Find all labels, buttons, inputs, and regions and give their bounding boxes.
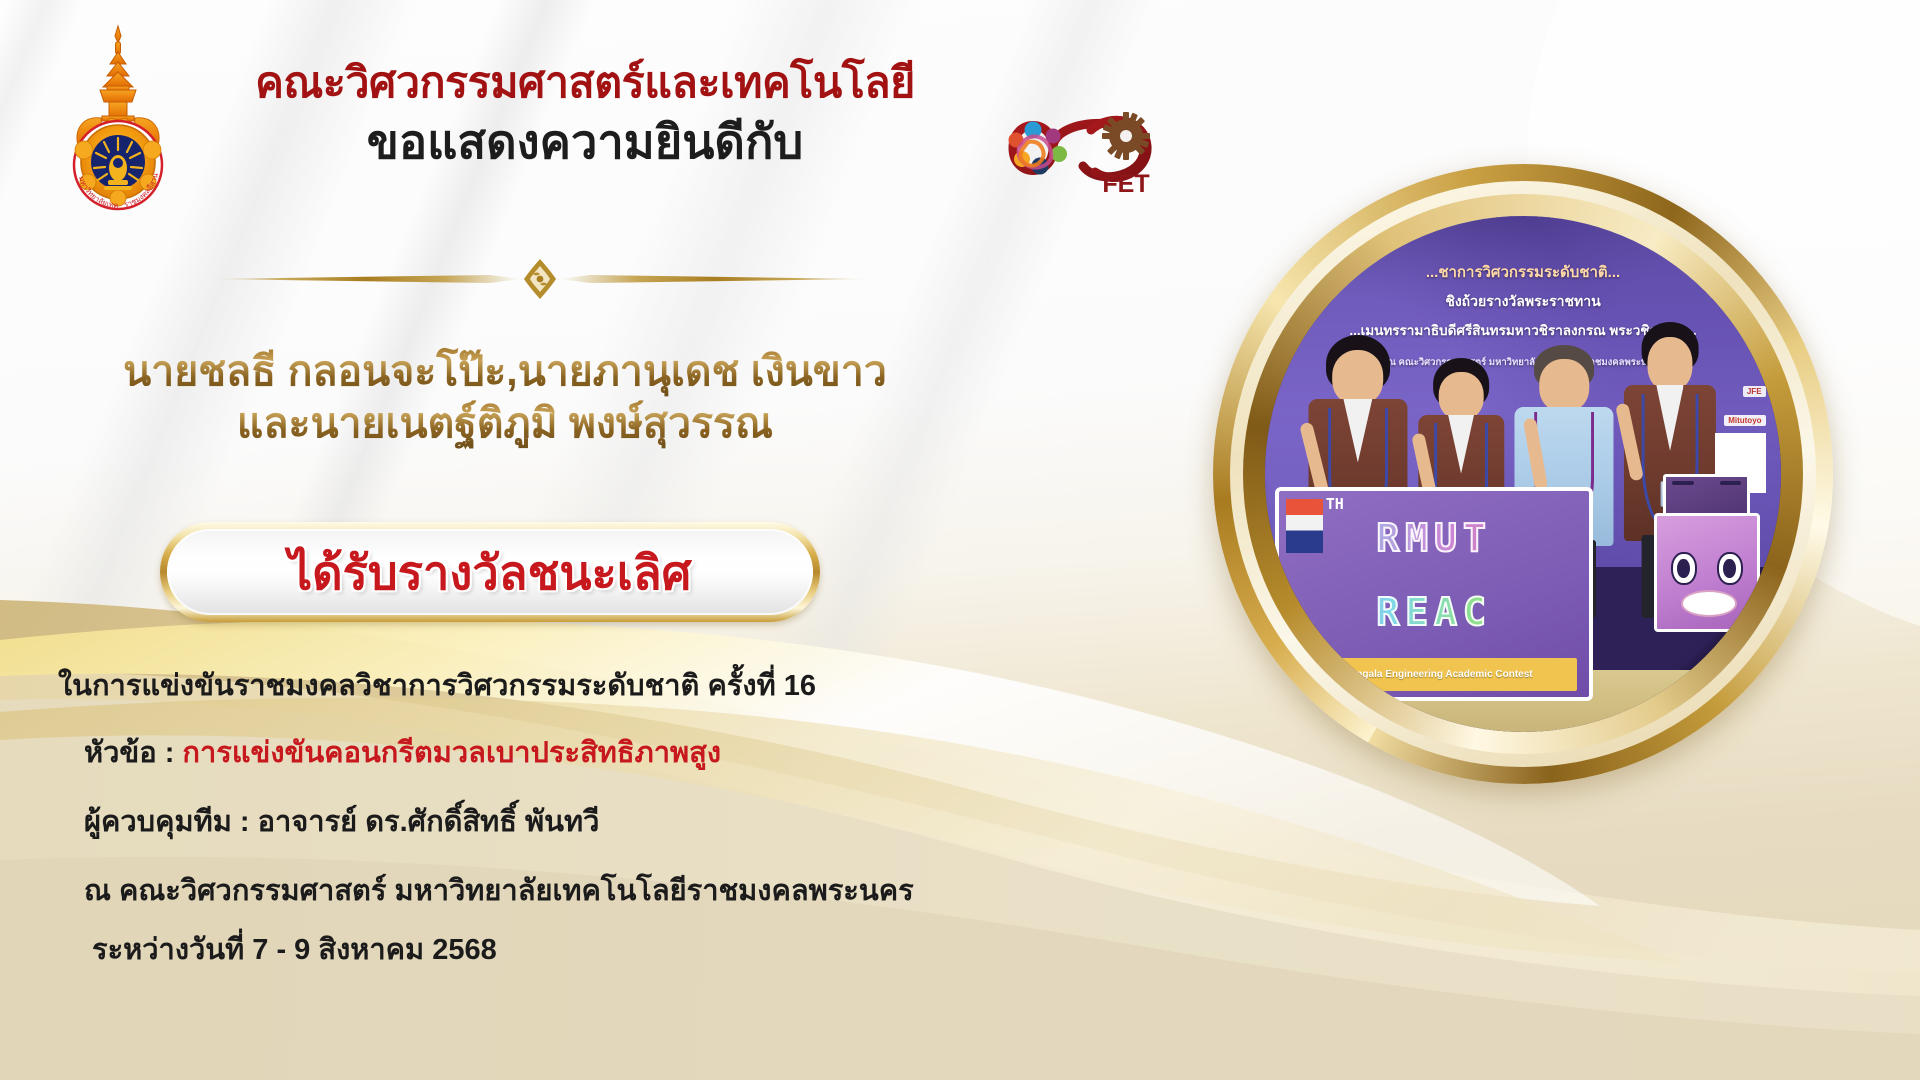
photo-content: ...ชาการวิศวกรรมระดับชาติ... ชิงถ้วยรางว… bbox=[1265, 216, 1781, 732]
topic-line: หัวข้อ : การแข่งขันคอนกรีตมวลเบาประสิทธิ… bbox=[84, 739, 1088, 768]
topic-label: หัวข้อ : bbox=[84, 737, 182, 769]
fet-label: FET bbox=[1102, 170, 1149, 198]
mascot-face bbox=[1654, 513, 1760, 632]
gold-ornamental-divider-icon bbox=[190, 258, 890, 300]
team-award-photo: ...ชาการวิศวกรรมระดับชาติ... ชิงถ้วยรางว… bbox=[1213, 164, 1833, 784]
venue-line: ณ คณะวิศวกรรมศาสตร์ มหาวิทยาลัยเทคโนโลยี… bbox=[84, 877, 1088, 906]
sponsor-logo-1: JFE bbox=[1743, 386, 1766, 397]
sign-subtitle: ...ngala Engineering Academic Contest bbox=[1304, 658, 1576, 691]
backdrop-text-line-2: ชิงถ้วยรางวัลพระราชทาน bbox=[1265, 291, 1781, 313]
congratulations-title: ขอแสดงความยินดีกับ bbox=[170, 113, 1000, 170]
certificate-banner: มหาวิทยาลัยเทคโนโลยี ราชมงคลอีสาน คณะวิศ… bbox=[0, 0, 1920, 1080]
robot-mascot-icon: 2025 bbox=[1647, 474, 1761, 691]
mascot-year-label: 2025 bbox=[1654, 681, 1754, 699]
details-block: ในการแข่งขันราชมงคลวิชาการวิศวกรรมระดับช… bbox=[58, 672, 1088, 965]
sign-reac-label: REAC bbox=[1298, 577, 1570, 647]
header-block: คณะวิศวกรรมศาสตร์และเทคโนโลยี ขอแสดงความ… bbox=[170, 58, 1000, 170]
winner-names-line-2: และนายเนตฐ์ติภูมิ พงษ์สุวรรณ bbox=[40, 397, 970, 449]
dates-line: ระหว่างวันที่ 7 - 9 สิงหาคม 2568 bbox=[92, 936, 1088, 965]
faculty-title: คณะวิศวกรรมศาสตร์และเทคโนโลยี bbox=[170, 58, 1000, 109]
backdrop-text-line-1: ...ชาการวิศวกรรมระดับชาติ... bbox=[1265, 260, 1781, 284]
winner-names-line-1: นายชลธี กลอนจะโป๊ะ,นายภานุเดช เงินขาว bbox=[40, 345, 970, 397]
competition-line: ในการแข่งขันราชมงคลวิชาการวิศวกรรมระดับช… bbox=[58, 672, 1088, 701]
award-plaque: ได้รับรางวัลชนะเลิศ bbox=[160, 522, 820, 622]
fet-logo: FET bbox=[995, 96, 1180, 201]
university-emblem-icon: มหาวิทยาลัยเทคโนโลยี ราชมงคลอีสาน bbox=[52, 22, 184, 212]
winner-names: นายชลธี กลอนจะโป๊ะ,นายภานุเดช เงินขาว แล… bbox=[40, 345, 970, 450]
sign-rmut-label: RMUT bbox=[1298, 503, 1570, 573]
gear-icon bbox=[1102, 112, 1150, 160]
award-plaque-inner: ได้รับรางวัลชนะเลิศ bbox=[167, 529, 813, 615]
award-label: ได้รับรางวัลชนะเลิศ bbox=[289, 535, 692, 610]
event-sign: TH RMUT REAC ...ngala Engineering Academ… bbox=[1275, 487, 1593, 701]
sponsor-logo-2: Mitutoyo bbox=[1724, 415, 1765, 426]
topic-value: การแข่งขันคอนกรีตมวลเบาประสิทธิภาพสูง bbox=[182, 737, 721, 769]
advisor-line: ผู้ควบคุมทีม : อาจารย์ ดร.ศักดิ์สิทธิ์ พ… bbox=[84, 808, 1088, 837]
